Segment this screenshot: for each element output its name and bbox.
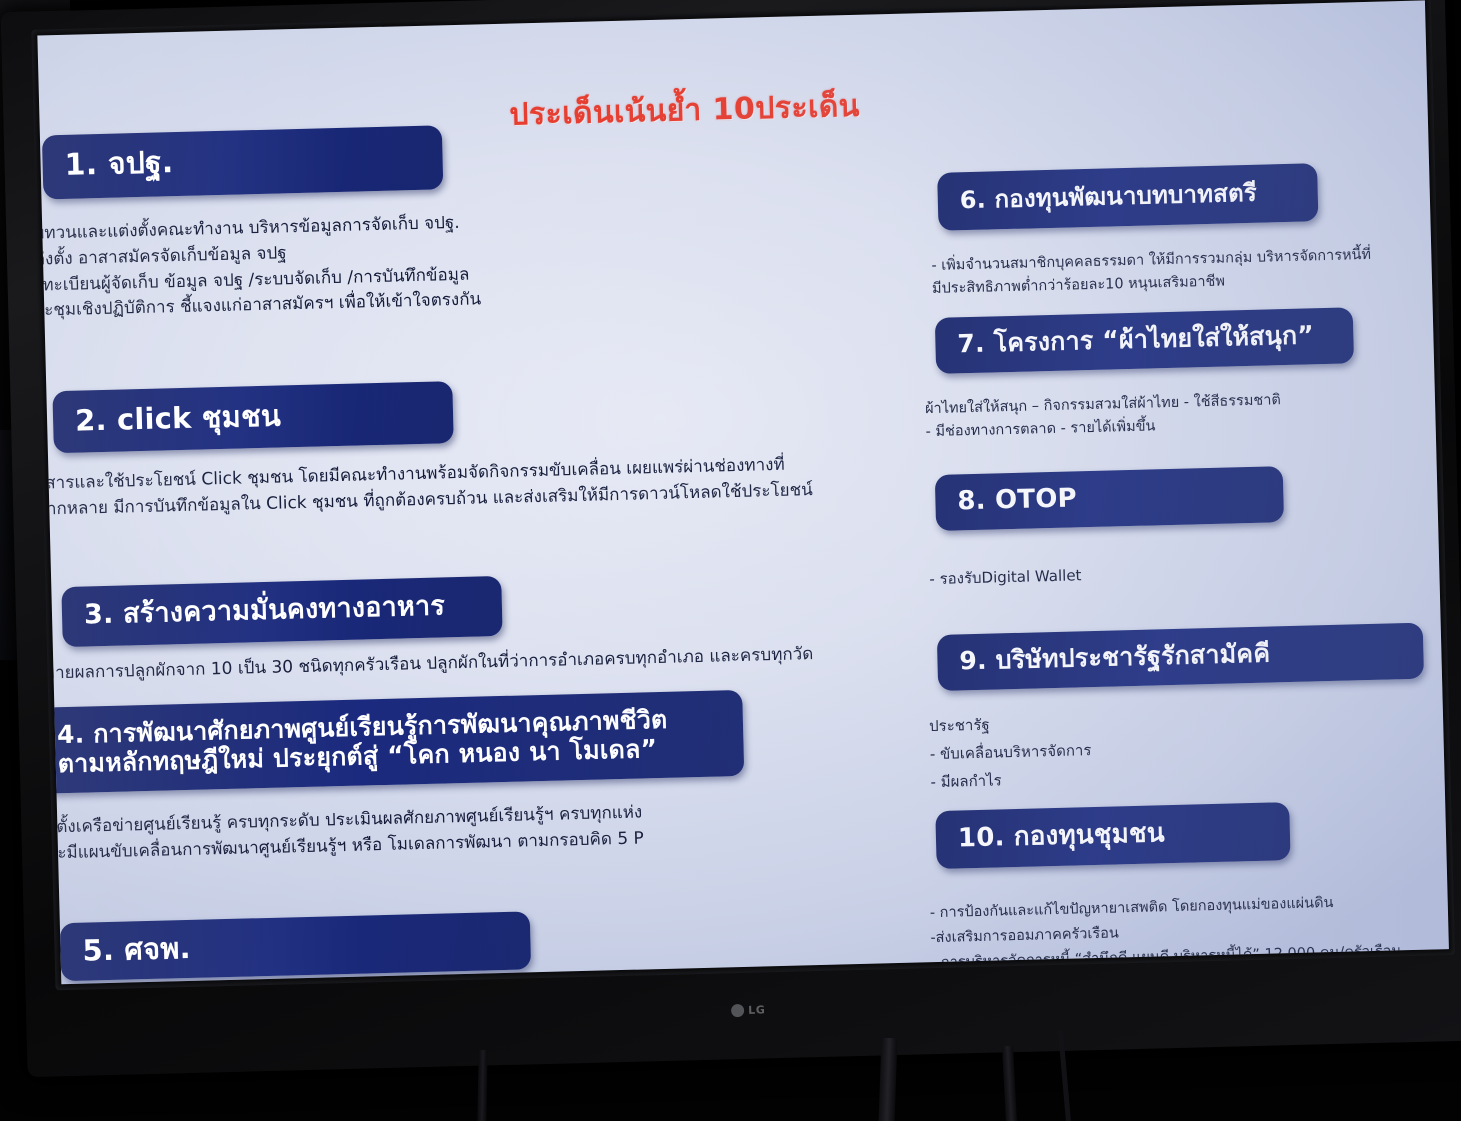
tv-stand-neck-2: [1002, 1046, 1017, 1121]
section-header-3[interactable]: 3. สร้างความมั่นคงทางอาหาร: [61, 576, 502, 647]
television: ประเด็นเน้นย้ำ 10ประเด็น 1. จปฐ. ทบทวนแล…: [1, 0, 1461, 1077]
section-header-6-line-1: 6. กองทุนพัฒนาบทบาทสตรี: [959, 177, 1318, 214]
tv-brand-logo: LG: [731, 1003, 766, 1017]
section-body-8: - รองรับDigital Wallet: [929, 555, 1409, 591]
section-body-8-line-1: - รองรับDigital Wallet: [929, 555, 1409, 591]
section-header-2-line-1: 2. click ชุมชน: [75, 394, 454, 438]
tv-stand-leg: [477, 1050, 487, 1121]
section-header-3-line-1: 3. สร้างความมั่นคงทางอาหาร: [84, 589, 503, 631]
slide-title: ประเด็นเน้นย้ำ 10ประเด็น: [509, 83, 860, 139]
section-header-7[interactable]: 7. โครงการ “ผ้าไทยใส่ให้สนุก”: [935, 307, 1354, 374]
section-header-2[interactable]: 2. click ชุมชน: [52, 381, 453, 453]
section-header-4[interactable]: 4. การพัฒนาศักยภาพศูนย์เรียนรู้การพัฒนาค…: [42, 690, 744, 794]
lg-circle-icon: [731, 1004, 744, 1017]
section-header-6[interactable]: 6. กองทุนพัฒนาบทบาทสตรี: [937, 163, 1318, 231]
tv-screen: ประเด็นเน้นย้ำ 10ประเด็น 1. จปฐ. ทบทวนแล…: [37, 0, 1449, 984]
section-header-9-line-1: 9. บริษัทประชารัฐรักสามัคคี: [959, 635, 1424, 676]
tv-brand-label: LG: [748, 1003, 766, 1016]
section-body-3-line-1: ขยายผลการปลูกผักจาก 10 เป็น 30 ชนิดทุกคร…: [37, 640, 893, 688]
section-header-8-line-1: 8. OTOP: [957, 478, 1284, 517]
section-header-10[interactable]: 10. กองทุนชุมชน: [935, 802, 1290, 869]
section-header-1[interactable]: 1. จปฐ.: [42, 125, 443, 199]
room-scene: ประเด็นเน้นย้ำ 10ประเด็น 1. จปฐ. ทบทวนแล…: [0, 0, 1461, 1121]
section-body-1: ทบทวนและแต่งตั้งคณะทำงาน บริหารข้อมูลการ…: [37, 201, 864, 326]
section-body-6: - เพิ่มจำนวนสมาชิกบุคคลธรรมดา ให้มีการรว…: [931, 243, 1412, 302]
section-body-9: ประชารัฐ - ขับเคลื่อนบริหารจัดการ - มีผล…: [929, 701, 1411, 796]
section-header-9[interactable]: 9. บริษัทประชารัฐรักสามัคคี: [937, 623, 1424, 691]
section-header-1-line-1: 1. จปฐ.: [64, 139, 443, 184]
section-header-10-line-1: 10. กองทุนชุมชน: [958, 815, 1291, 854]
tv-stand-neck: [879, 1038, 898, 1121]
section-header-7-line-1: 7. โครงการ “ผ้าไทยใส่ให้สนุก”: [957, 320, 1354, 360]
section-body-7: ผ้าไทยใส่ให้สนุก – กิจกรรมสวมใส่ผ้าไทย -…: [925, 386, 1406, 445]
presentation-slide: ประเด็นเน้นย้ำ 10ประเด็น 1. จปฐ. ทบทวนแล…: [37, 0, 1449, 984]
section-body-4: จัดตั้งเครือข่ายศูนย์เรียนรู้ ครบทุกระดั…: [37, 794, 896, 867]
section-header-5-line-1: 5. ศจพ.: [82, 922, 531, 968]
section-header-8[interactable]: 8. OTOP: [935, 466, 1284, 531]
section-body-3: ขยายผลการปลูกผักจาก 10 เป็น 30 ชนิดทุกคร…: [37, 640, 893, 688]
section-header-5[interactable]: 5. ศจพ.: [60, 911, 531, 981]
section-body-2: สื่อสารและใช้ประโยชน์ Click ชุมชน โดยมีค…: [37, 450, 905, 524]
